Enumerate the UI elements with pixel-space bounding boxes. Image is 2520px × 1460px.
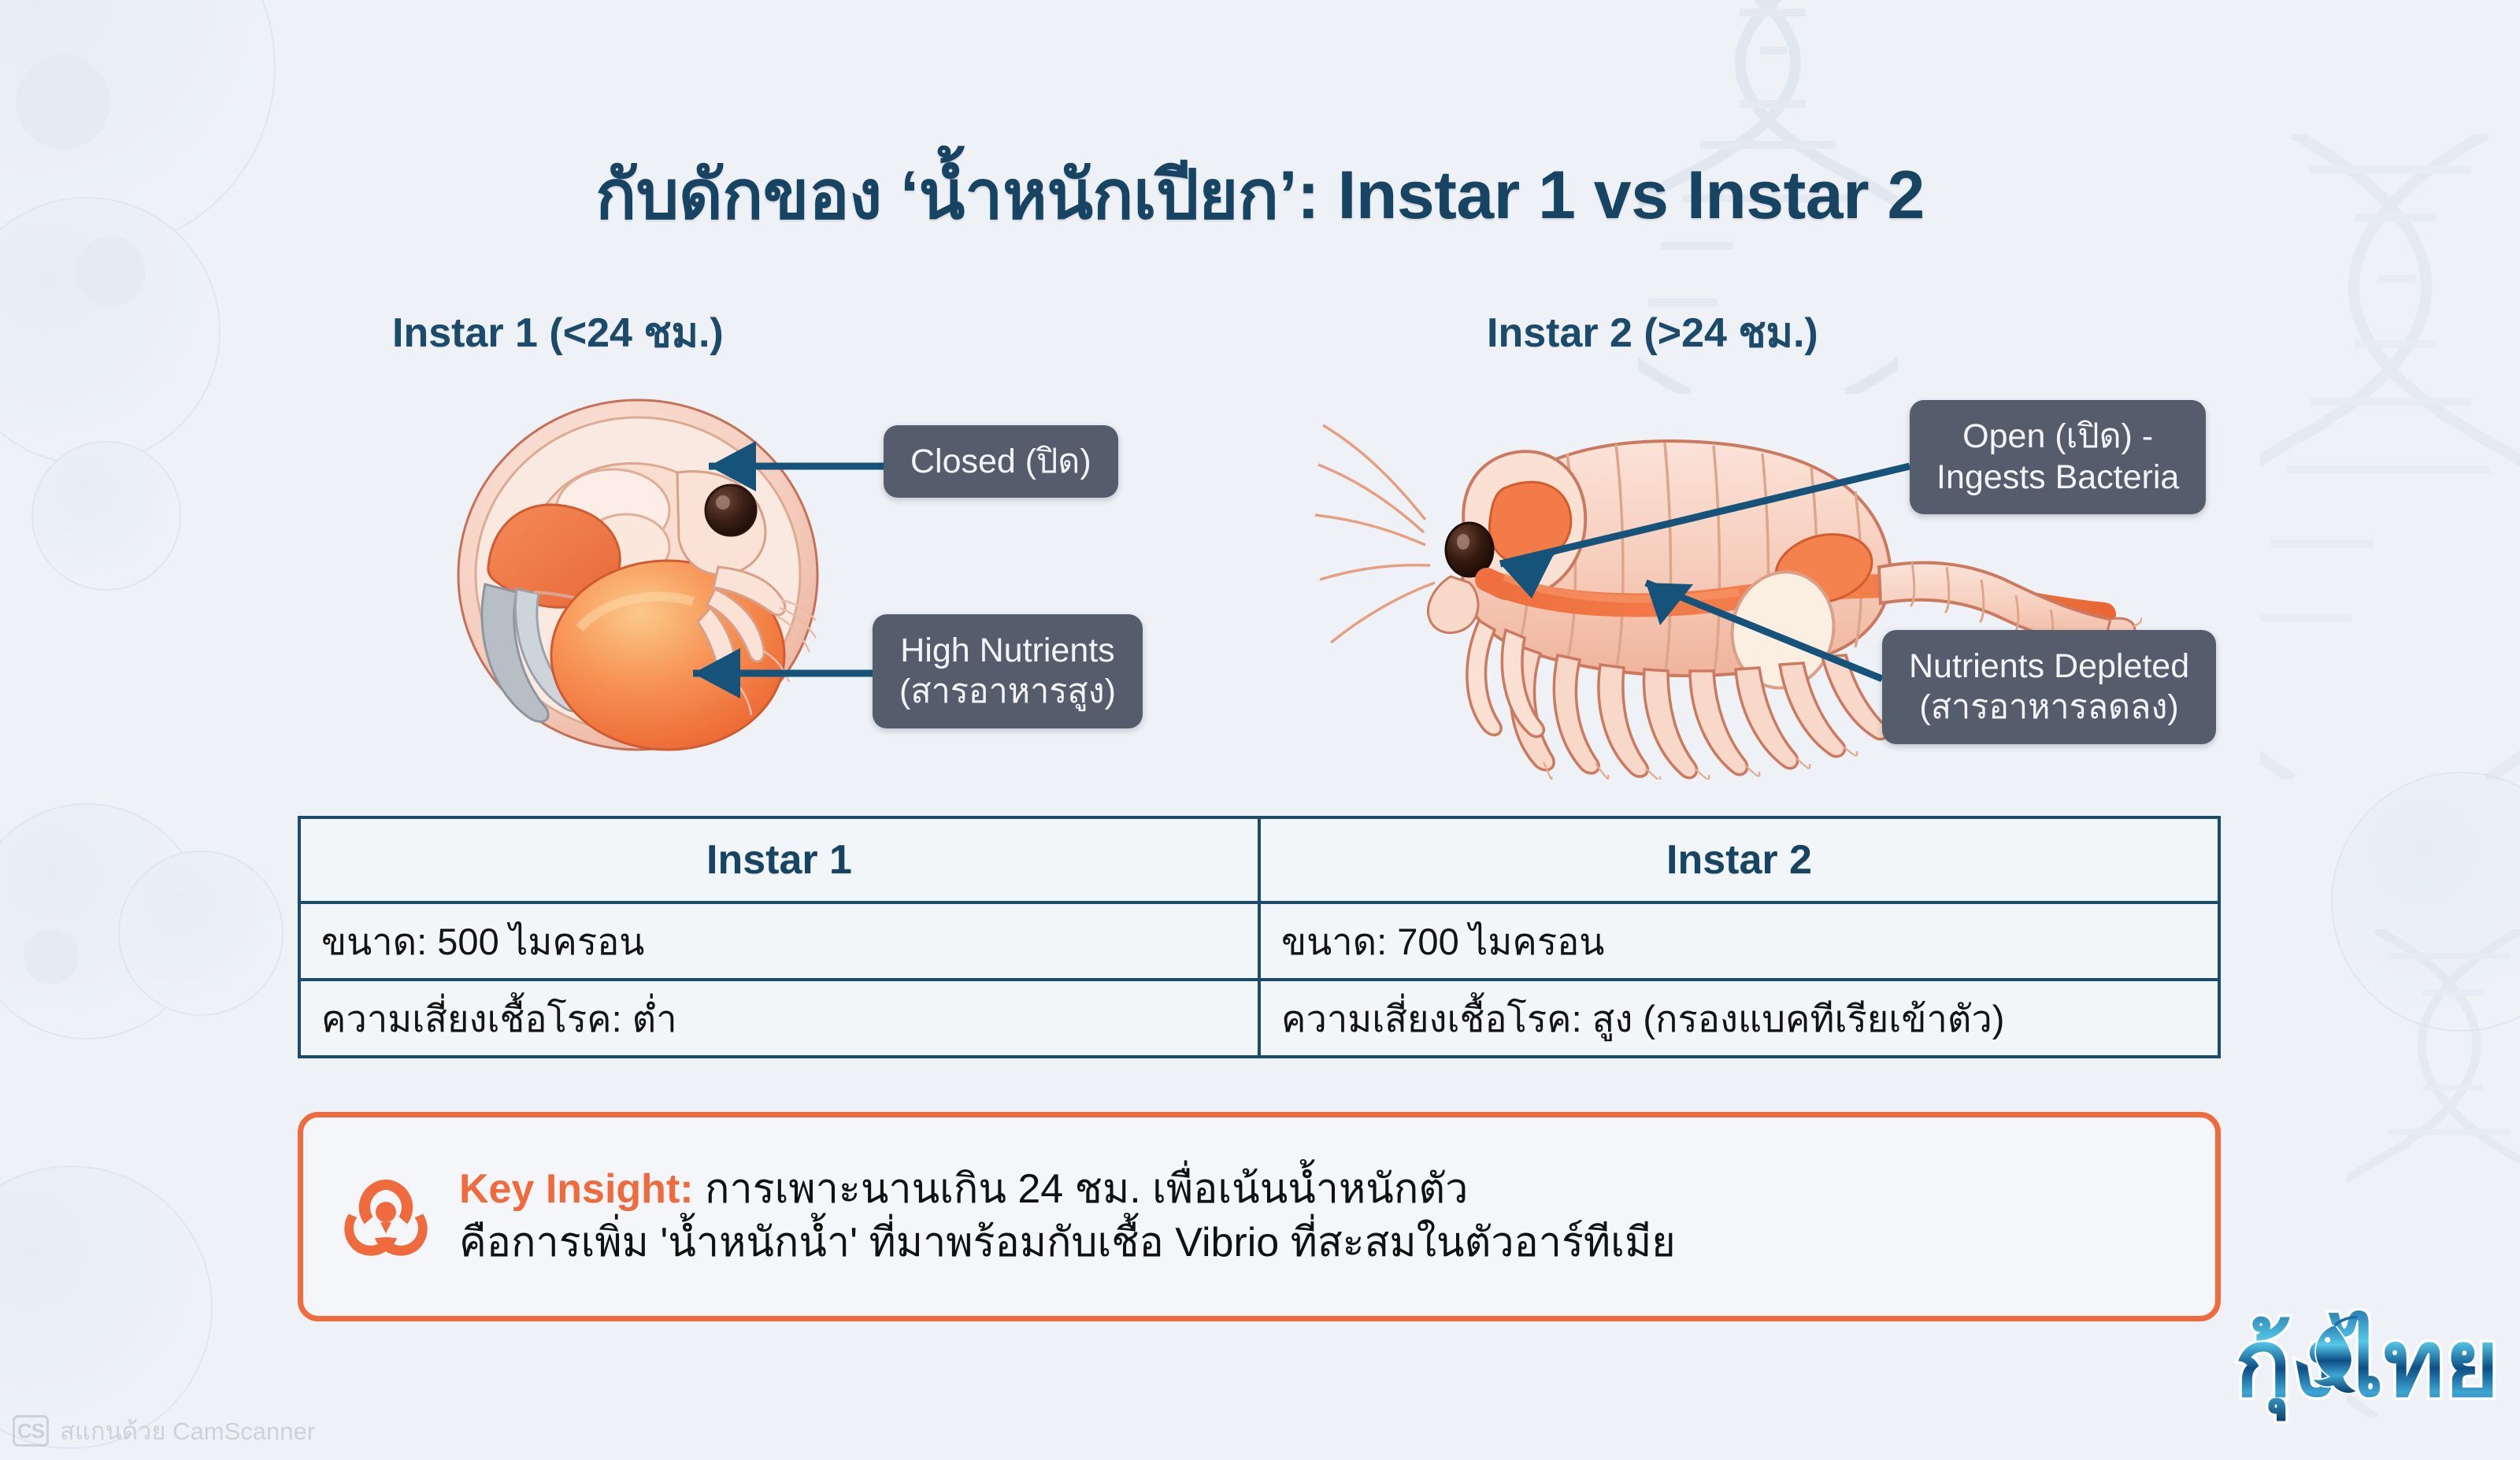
- table-header-instar1: Instar 1: [299, 817, 1259, 902]
- column-heading-instar1: Instar 1 (<24 ชม.): [392, 299, 724, 365]
- callout-closed: Closed (ปิด): [884, 425, 1118, 498]
- table-row: ขนาด: 500 ไมครอน ขนาด: 700 ไมครอน: [299, 902, 2219, 980]
- key-insight-body-1: การเพาะนานเกิน 24 ชม. เพื่อเน้นน้ำหนักตั…: [694, 1166, 1469, 1212]
- column-heading-instar2: Instar 2 (>24 ชม.): [1487, 299, 1818, 365]
- camscanner-watermark: CS สแกนด้วย CamScanner: [13, 1411, 315, 1451]
- key-insight-line-1: Key Insight: การเพาะนานเกิน 24 ชม. เพื่อ…: [459, 1163, 1676, 1217]
- table-header-instar2: Instar 2: [1259, 817, 2219, 902]
- brand-logo-text: กุ้งไทย: [2235, 1310, 2499, 1421]
- table-cell-size-instar1: ขนาด: 500 ไมครอน: [299, 902, 1259, 980]
- callout-high-nutrients: High Nutrients (สารอาหารสูง): [873, 614, 1143, 728]
- brand-logo-kung-thai: กุ้งไทย: [2229, 1307, 2520, 1425]
- table-cell-size-instar2: ขนาด: 700 ไมครอน: [1259, 902, 2219, 980]
- key-insight-text: Key Insight: การเพาะนานเกิน 24 ชม. เพื่อ…: [459, 1163, 1676, 1269]
- callout-nutrients-depleted: Nutrients Depleted (สารอาหารลดลง): [1882, 630, 2216, 744]
- key-insight-line-2: คือการเพิ่ม 'น้ำหนักน้ำ' ที่มาพร้อมกับเช…: [459, 1217, 1676, 1270]
- camscanner-badge: CS: [13, 1415, 49, 1447]
- table-row: ความเสี่ยงเชื้อโรค: ต่ำ ความเสี่ยงเชื้อโ…: [299, 980, 2219, 1057]
- table-header-row: Instar 1 Instar 2: [299, 817, 2219, 902]
- camscanner-text: สแกนด้วย CamScanner: [60, 1411, 315, 1451]
- table-cell-risk-instar2: ความเสี่ยงเชื้อโรค: สูง (กรองแบคทีเรียเข…: [1259, 980, 2219, 1057]
- slide-canvas: กับดักของ ‘น้ำหนักเปียก’: Instar 1 vs In…: [0, 0, 2520, 1460]
- key-insight-box: Key Insight: การเพาะนานเกิน 24 ชม. เพื่อ…: [298, 1112, 2221, 1321]
- page-title: กับดักของ ‘น้ำหนักเปียก’: Instar 1 vs In…: [0, 140, 2520, 248]
- comparison-table: Instar 1 Instar 2 ขนาด: 500 ไมครอน ขนาด:…: [298, 816, 2221, 1058]
- biohazard-icon: [339, 1170, 432, 1263]
- artemia-instar1-cyst-illustration: [441, 378, 850, 764]
- table-cell-risk-instar1: ความเสี่ยงเชื้อโรค: ต่ำ: [299, 980, 1259, 1057]
- key-insight-label: Key Insight:: [459, 1166, 694, 1212]
- callout-open-ingests-bacteria: Open (เปิด) - Ingests Bacteria: [1910, 400, 2206, 514]
